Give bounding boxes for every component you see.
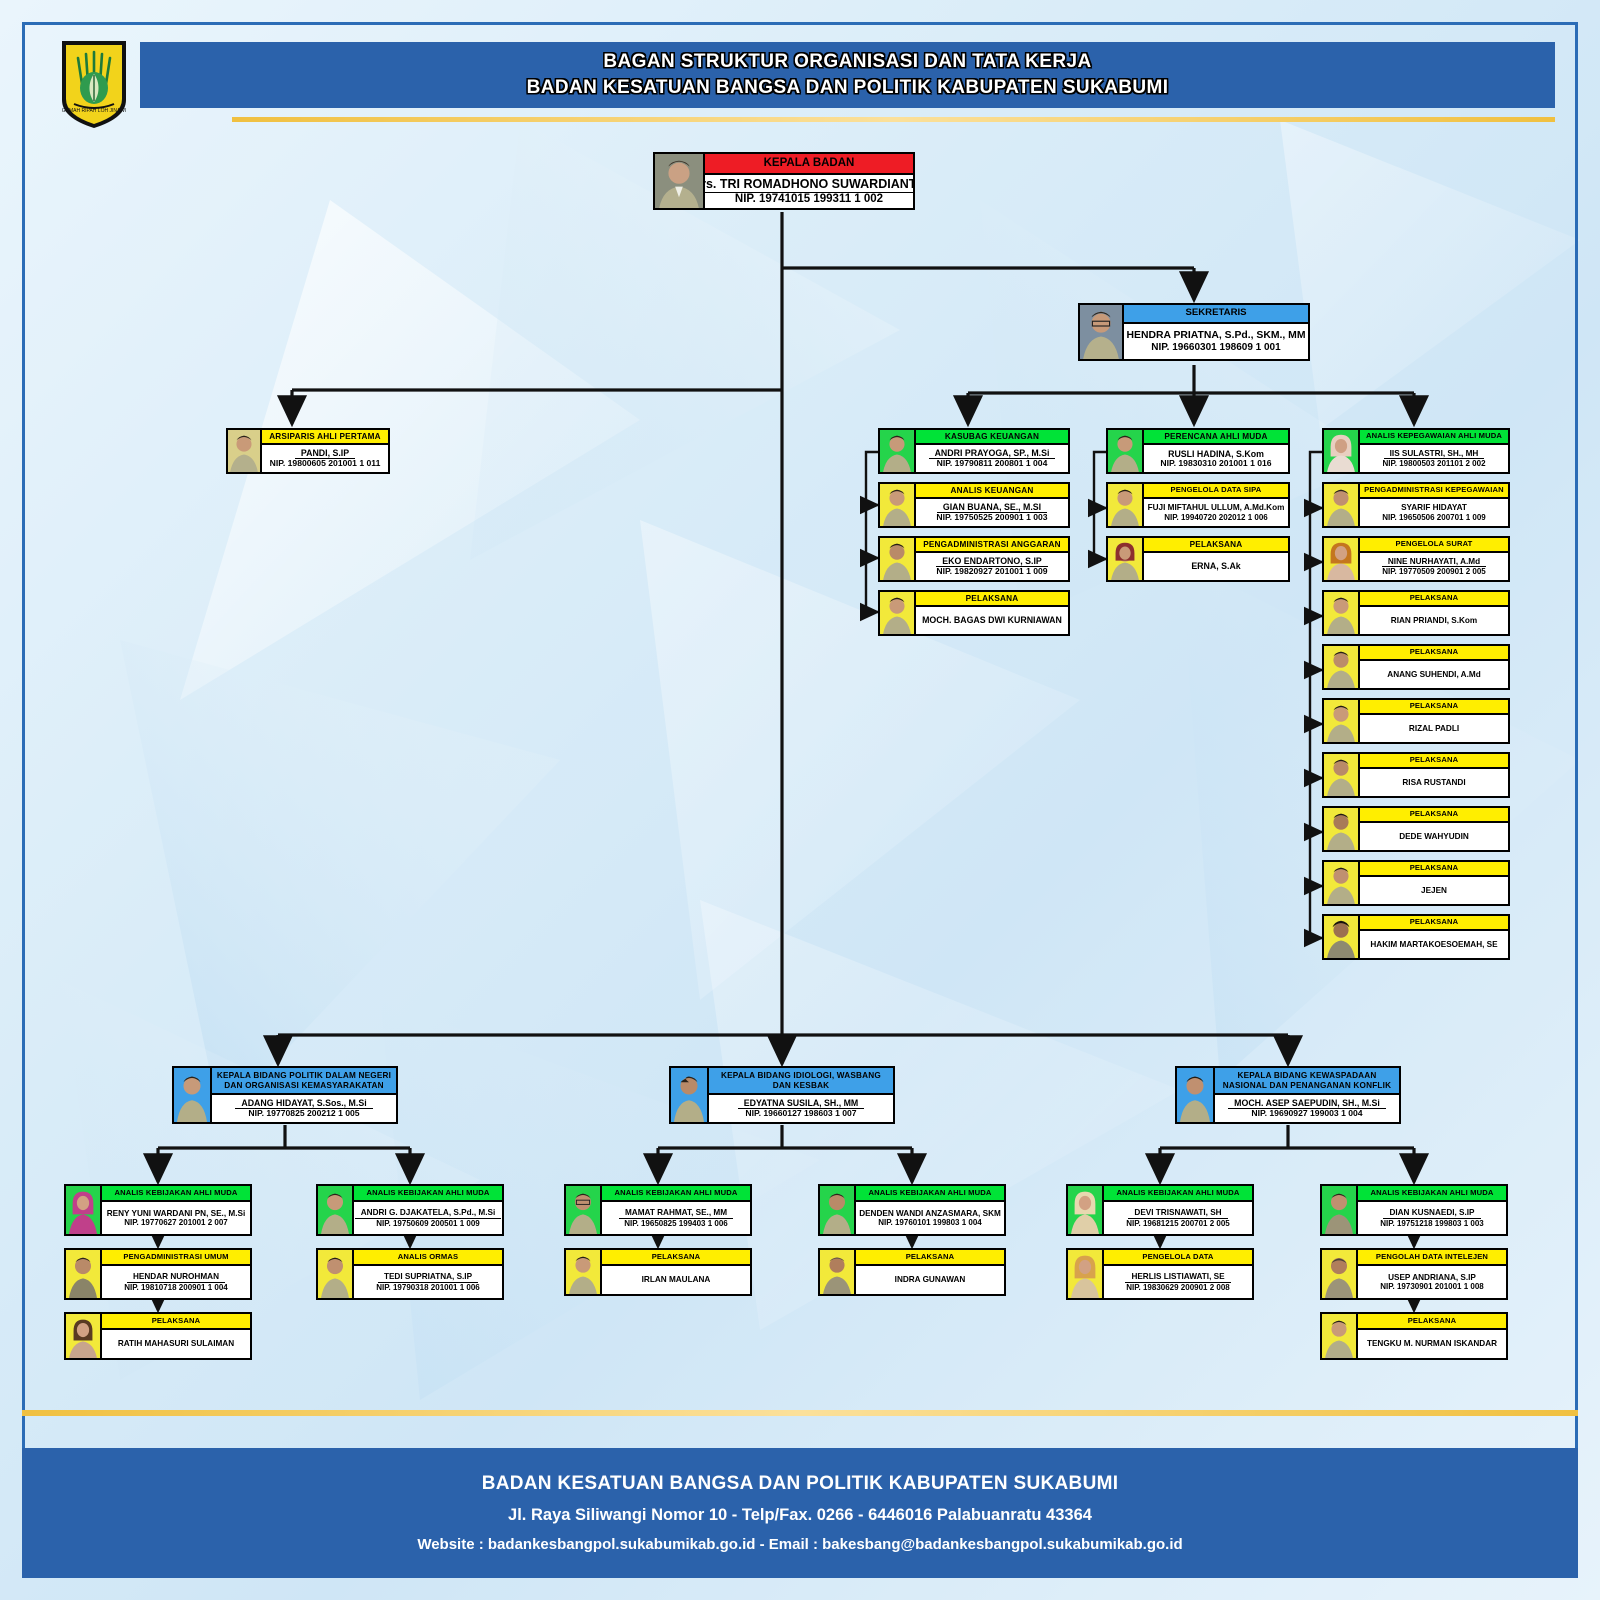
node-person-name: SYARIF HIDAYAT <box>1401 503 1467 512</box>
node-person-name: HENDAR NUROHMAN <box>127 1272 225 1282</box>
avatar <box>1324 430 1360 472</box>
node-b1a-pelaksana[interactable]: PELAKSANA RATIH MAHASURI SULAIMAN <box>64 1312 252 1360</box>
svg-text:GEMAH RIPAH LOH JINAWI: GEMAH RIPAH LOH JINAWI <box>62 108 126 114</box>
node-title: KEPALA BIDANG POLITIK DALAM NEGERI DAN O… <box>212 1068 396 1095</box>
node-kepegawaian-pelaksana-6[interactable]: PELAKSANA JEJEN <box>1322 860 1510 906</box>
node-person-name: NINE NURHAYATI, A.Md <box>1382 557 1486 567</box>
node-kepala-badan[interactable]: KEPALA BADAN Drs. TRI ROMADHONO SUWARDIA… <box>653 152 915 210</box>
avatar <box>66 1186 102 1234</box>
node-pengelola-data[interactable]: PENGELOLA DATA HERLIS LISTIAWATI, SE NIP… <box>1066 1248 1254 1300</box>
sukabumi-regency-crest-logo: GEMAH RIPAH LOH JINAWI <box>58 38 130 130</box>
node-title: KEPALA BADAN <box>705 154 913 175</box>
avatar <box>880 484 916 526</box>
node-nip: NIP. 19750525 200901 1 003 <box>936 513 1047 523</box>
node-b2b-pelaksana[interactable]: PELAKSANA INDRA GUNAWAN <box>818 1248 1006 1296</box>
node-analis-kebijakan-devi[interactable]: ANALIS KEBIJAKAN AHLI MUDA DEVI TRISNAWA… <box>1066 1184 1254 1236</box>
node-analis-kebijakan-denden[interactable]: ANALIS KEBIJAKAN AHLI MUDA DENDEN WANDI … <box>818 1184 1006 1236</box>
node-pengolah-data-intelejen[interactable]: PENGOLAH DATA INTELEJEN USEP ANDRIANA, S… <box>1320 1248 1508 1300</box>
node-title: PENGOLAH DATA INTELEJEN <box>1358 1250 1506 1266</box>
node-analis-ormas[interactable]: ANALIS ORMAS TEDI SUPRIATNA, S.IP NIP. 1… <box>316 1248 504 1300</box>
node-analis-kepegawaian-ahli-muda[interactable]: ANALIS KEPEGAWAIAN AHLI MUDA IIS SULASTR… <box>1322 428 1510 474</box>
avatar <box>566 1250 602 1294</box>
node-nip: NIP. 19800503 201101 2 002 <box>1382 459 1485 468</box>
node-person-name: TENGKU M. NURMAN ISKANDAR <box>1367 1339 1497 1348</box>
node-nip: NIP. 19800605 201001 1 011 <box>270 459 381 469</box>
node-title: KEPALA BIDANG IDIOLOGI, WASBANG DAN KESB… <box>709 1068 893 1095</box>
node-person-name: DEVI TRISNAWATI, SH <box>1128 1208 1227 1218</box>
node-title: PENGADMINISTRASI ANGGARAN <box>916 538 1068 553</box>
node-title: PELAKSANA <box>1360 862 1508 877</box>
node-person-name: RIZAL PADLI <box>1409 724 1459 733</box>
node-kepala-bidang-idiologi-wasbang[interactable]: KEPALA BIDANG IDIOLOGI, WASBANG DAN KESB… <box>669 1066 895 1124</box>
avatar <box>228 430 262 472</box>
avatar <box>1324 484 1360 526</box>
node-nip: NIP. 19690927 199003 1 004 <box>1251 1109 1362 1119</box>
avatar <box>1324 862 1360 904</box>
node-person-name: HERLIS LISTIAWATI, SE <box>1125 1272 1230 1282</box>
node-title: PENGADMINISTRASI KEPEGAWAIAN <box>1360 484 1508 499</box>
node-title: PELAKSANA <box>856 1250 1004 1266</box>
node-nip: NIP. 19830629 200901 2 008 <box>1126 1283 1230 1292</box>
node-title: PELAKSANA <box>1360 916 1508 931</box>
node-kepegawaian-pelaksana-7[interactable]: PELAKSANA HAKIM MARTAKOESOEMAH, SE <box>1322 914 1510 960</box>
footer-contact: Website : badankesbangpol.sukabumikab.go… <box>417 1536 1182 1553</box>
node-person-name: DIAN KUSNAEDI, S.IP <box>1383 1208 1480 1218</box>
node-b2a-pelaksana[interactable]: PELAKSANA IRLAN MAULANA <box>564 1248 752 1296</box>
node-person-name: JEJEN <box>1421 886 1447 895</box>
node-pengelola-data-sipa[interactable]: PENGELOLA DATA SIPA FUJI MIFTAHUL ULLUM,… <box>1106 482 1290 528</box>
node-nip: NIP. 19940720 202012 1 006 <box>1164 513 1268 522</box>
node-analis-kebijakan-mamat[interactable]: ANALIS KEBIJAKAN AHLI MUDA MAMAT RAHMAT,… <box>564 1184 752 1236</box>
avatar <box>1177 1068 1215 1122</box>
node-nip: NIP. 19770509 200901 2 005 <box>1382 567 1486 576</box>
node-pengadministrasi-kepegawaian[interactable]: PENGADMINISTRASI KEPEGAWAIAN SYARIF HIDA… <box>1322 482 1510 528</box>
footer-address: Jl. Raya Siliwangi Nomor 10 - Telp/Fax. … <box>508 1506 1092 1525</box>
node-pengadministrasi-anggaran[interactable]: PENGADMINISTRASI ANGGARAN EKO ENDARTONO,… <box>878 536 1070 582</box>
node-person-name: HAKIM MARTAKOESOEMAH, SE <box>1370 940 1497 949</box>
node-title: PELAKSANA <box>1358 1314 1506 1330</box>
node-kepegawaian-pelaksana-5[interactable]: PELAKSANA DEDE WAHYUDIN <box>1322 806 1510 852</box>
node-nip: NIP. 19770627 201001 2 007 <box>124 1218 228 1227</box>
node-title: KASUBAG KEUANGAN <box>916 430 1068 445</box>
node-person-name: RATIH MAHASURI SULAIMAN <box>118 1339 234 1348</box>
node-analis-keuangan[interactable]: ANALIS KEUANGAN GIAN BUANA, SE., M.SI NI… <box>878 482 1070 528</box>
avatar <box>1324 754 1360 796</box>
avatar <box>880 538 916 580</box>
node-person-name: HENDRA PRIATNA, S.Pd., SKM., MM <box>1127 330 1306 342</box>
avatar <box>1324 646 1360 688</box>
node-title: PELAKSANA <box>1144 538 1288 553</box>
avatar <box>66 1250 102 1298</box>
node-title: PELAKSANA <box>102 1314 250 1330</box>
node-nip: NIP. 19790318 201001 1 006 <box>376 1283 480 1292</box>
node-perencana-pelaksana[interactable]: PELAKSANA ERNA, S.Ak <box>1106 536 1290 582</box>
avatar <box>1324 916 1360 958</box>
node-nip: NIP. 19650825 199403 1 006 <box>624 1219 728 1228</box>
header-gold-rule <box>232 117 1555 122</box>
node-person-name: TEDI SUPRIATNA, S.IP <box>378 1272 478 1282</box>
node-title: ANALIS KEBIJAKAN AHLI MUDA <box>354 1186 502 1202</box>
node-person-name: FUJI MIFTAHUL ULLUM, A.Md.Kom <box>1148 503 1285 512</box>
node-person-name: ANDRI G. DJAKATELA, S.Pd., M.Si <box>355 1208 502 1218</box>
node-title: PENGELOLA DATA SIPA <box>1144 484 1288 499</box>
avatar <box>1108 430 1144 472</box>
node-perencana-ahli-muda[interactable]: PERENCANA AHLI MUDA RUSLI HADINA, S.Kom … <box>1106 428 1290 474</box>
node-title: ANALIS KEBIJAKAN AHLI MUDA <box>856 1186 1004 1202</box>
node-person-name: INDRA GUNAWAN <box>895 1275 966 1284</box>
avatar <box>655 154 705 208</box>
node-b3b-pelaksana[interactable]: PELAKSANA TENGKU M. NURMAN ISKANDAR <box>1320 1312 1508 1360</box>
node-title: PELAKSANA <box>1360 754 1508 769</box>
avatar <box>1324 592 1360 634</box>
node-person-name: MAMAT RAHMAT, SE., MM <box>619 1208 733 1218</box>
avatar <box>318 1186 354 1234</box>
node-person-name: IRLAN MAULANA <box>642 1275 711 1284</box>
avatar <box>1068 1186 1104 1234</box>
node-title: PELAKSANA <box>1360 808 1508 823</box>
avatar <box>1324 538 1360 580</box>
node-analis-kebijakan-andri[interactable]: ANALIS KEBIJAKAN AHLI MUDA ANDRI G. DJAK… <box>316 1184 504 1236</box>
node-nip: NIP. 19790811 200801 1 004 <box>937 459 1048 469</box>
node-person-name: MOCH. BAGAS DWI KURNIAWAN <box>922 615 1062 625</box>
avatar <box>1324 808 1360 850</box>
node-title: PENGELOLA DATA <box>1104 1250 1252 1266</box>
node-person-name: RENY YUNI WARDANI PN, SE., M.Si <box>107 1209 245 1218</box>
avatar <box>318 1250 354 1298</box>
node-title: ANALIS ORMAS <box>354 1250 502 1266</box>
node-pengadministrasi-umum[interactable]: PENGADMINISTRASI UMUM HENDAR NUROHMAN NI… <box>64 1248 252 1300</box>
node-kepegawaian-pelaksana-1[interactable]: PELAKSANA RIAN PRIANDI, S.Kom <box>1322 590 1510 636</box>
node-title: PERENCANA AHLI MUDA <box>1144 430 1288 445</box>
node-title: ANALIS KEBIJAKAN AHLI MUDA <box>1104 1186 1252 1202</box>
avatar <box>880 592 916 634</box>
avatar <box>1108 484 1144 526</box>
header-title-line1: BAGAN STRUKTUR ORGANISASI DAN TATA KERJA <box>527 49 1169 75</box>
avatar <box>1068 1250 1104 1298</box>
chart-header-banner: BAGAN STRUKTUR ORGANISASI DAN TATA KERJA… <box>140 42 1555 108</box>
header-title-line2: BADAN KESATUAN BANGSA DAN POLITIK KABUPA… <box>527 75 1169 101</box>
node-person-name: USEP ANDRIANA, S.IP <box>1388 1273 1476 1282</box>
node-analis-kebijakan-reny[interactable]: ANALIS KEBIJAKAN AHLI MUDA RENY YUNI WAR… <box>64 1184 252 1236</box>
node-person-name: IIS SULASTRI, SH., MH <box>1384 449 1485 459</box>
node-title: SEKRETARIS <box>1124 305 1308 324</box>
avatar <box>1322 1314 1358 1358</box>
node-nip: NIP. 19760101 199803 1 004 <box>878 1218 982 1227</box>
node-nip: NIP. 19660127 198603 1 007 <box>745 1109 856 1119</box>
node-title: ANALIS KEPEGAWAIAN AHLI MUDA <box>1360 430 1508 445</box>
avatar <box>820 1250 856 1294</box>
footer-banner: BADAN KESATUAN BANGSA DAN POLITIK KABUPA… <box>22 1448 1578 1578</box>
node-person-name: ERNA, S.Ak <box>1191 561 1240 571</box>
node-title: PELAKSANA <box>1360 700 1508 715</box>
node-kepegawaian-pelaksana-4[interactable]: PELAKSANA RISA RUSTANDI <box>1322 752 1510 798</box>
node-nip: NIP. 19810718 200901 1 004 <box>124 1283 228 1292</box>
node-kepegawaian-pelaksana-2[interactable]: PELAKSANA ANANG SUHENDI, A.Md <box>1322 644 1510 690</box>
node-title: ARSIPARIS AHLI PERTAMA <box>262 430 388 445</box>
node-title: PELAKSANA <box>1360 646 1508 661</box>
node-sekretaris[interactable]: SEKRETARIS HENDRA PRIATNA, S.Pd., SKM., … <box>1078 303 1310 361</box>
node-kepala-bidang-politik-dalam-negeri[interactable]: KEPALA BIDANG POLITIK DALAM NEGERI DAN O… <box>172 1066 398 1124</box>
avatar <box>174 1068 212 1122</box>
node-person-name: DENDEN WANDI ANZASMARA, SKM <box>859 1209 1001 1218</box>
node-keuangan-pelaksana[interactable]: PELAKSANA MOCH. BAGAS DWI KURNIAWAN <box>878 590 1070 636</box>
avatar <box>66 1314 102 1358</box>
node-title: ANALIS KEUANGAN <box>916 484 1068 499</box>
footer-org-name: BADAN KESATUAN BANGSA DAN POLITIK KABUPA… <box>482 1473 1119 1495</box>
avatar <box>1080 305 1124 359</box>
node-person-name: RISA RUSTANDI <box>1402 778 1465 787</box>
avatar <box>880 430 916 472</box>
avatar <box>1324 700 1360 742</box>
node-title: KEPALA BIDANG KEWASPADAAN NASIONAL DAN P… <box>1215 1068 1399 1095</box>
node-nip: NIP. 19730901 201001 1 008 <box>1380 1282 1484 1291</box>
node-nip: NIP. 19751218 199803 1 003 <box>1380 1219 1484 1228</box>
avatar <box>820 1186 856 1234</box>
node-person-name: RIAN PRIANDI, S.Kom <box>1391 616 1477 625</box>
node-title: PENGELOLA SURAT <box>1360 538 1508 553</box>
avatar <box>1322 1250 1358 1298</box>
node-pengelola-surat[interactable]: PENGELOLA SURAT NINE NURHAYATI, A.Md NIP… <box>1322 536 1510 582</box>
node-nip: NIP. 19830310 201001 1 016 <box>1160 459 1271 469</box>
node-kepegawaian-pelaksana-3[interactable]: PELAKSANA RIZAL PADLI <box>1322 698 1510 744</box>
node-nip: NIP. 19820927 201001 1 009 <box>936 567 1047 577</box>
node-person-name: Drs. TRI ROMADHONO SUWARDIANTO <box>686 177 915 192</box>
node-title: PELAKSANA <box>602 1250 750 1266</box>
node-nip: NIP. 19650506 200701 1 009 <box>1382 513 1486 522</box>
node-person-name: ANANG SUHENDI, A.Md <box>1387 670 1480 679</box>
avatar <box>1322 1186 1358 1234</box>
node-person-name: DEDE WAHYUDIN <box>1399 832 1469 841</box>
node-nip: NIP. 19770825 200212 1 005 <box>248 1109 359 1119</box>
node-title: PELAKSANA <box>916 592 1068 607</box>
node-arsiparis-ahli-pertama[interactable]: ARSIPARIS AHLI PERTAMA PANDI, S.IP NIP. … <box>226 428 390 474</box>
node-title: ANALIS KEBIJAKAN AHLI MUDA <box>602 1186 750 1202</box>
node-analis-kebijakan-dian[interactable]: ANALIS KEBIJAKAN AHLI MUDA DIAN KUSNAEDI… <box>1320 1184 1508 1236</box>
avatar <box>1108 538 1144 580</box>
node-kasubag-keuangan[interactable]: KASUBAG KEUANGAN ANDRI PRAYOGA, SP., M.S… <box>878 428 1070 474</box>
node-nip: NIP. 19750609 200501 1 009 <box>376 1219 480 1228</box>
node-title: PELAKSANA <box>1360 592 1508 607</box>
node-kepala-bidang-kewaspadaan-nasional[interactable]: KEPALA BIDANG KEWASPADAAN NASIONAL DAN P… <box>1175 1066 1401 1124</box>
avatar <box>671 1068 709 1122</box>
node-title: ANALIS KEBIJAKAN AHLI MUDA <box>1358 1186 1506 1202</box>
footer-gold-rule <box>22 1410 1578 1416</box>
node-title: PENGADMINISTRASI UMUM <box>102 1250 250 1266</box>
node-nip: NIP. 19681215 200701 2 005 <box>1126 1219 1230 1228</box>
node-nip: NIP. 19741015 199311 1 002 <box>735 193 883 206</box>
node-nip: NIP. 19660301 198609 1 001 <box>1151 342 1280 354</box>
node-title: ANALIS KEBIJAKAN AHLI MUDA <box>102 1186 250 1202</box>
avatar <box>566 1186 602 1234</box>
